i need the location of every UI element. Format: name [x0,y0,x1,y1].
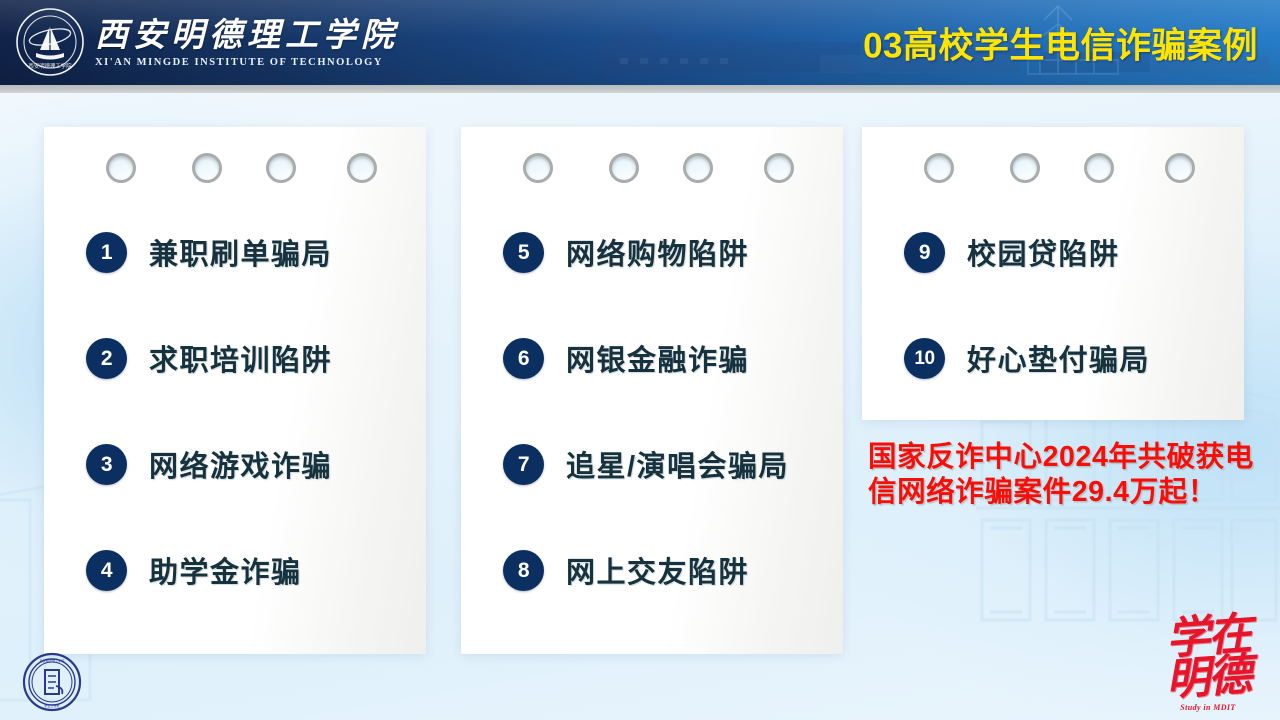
binder-hole-icon [1010,153,1040,183]
svg-text:西安明德理工学院: 西安明德理工学院 [28,62,72,70]
calligraphy-subtitle: Study in MDIT [1180,703,1235,712]
university-crest-icon: 西安明德理工学院 [14,6,86,78]
list-item[interactable]: 3 网络游戏诈骗 [86,443,332,485]
calligraphy-logo: 学在 明德 Study in MDIT [1144,588,1272,712]
binder-hole-icon [1165,153,1195,183]
list-item[interactable]: 2 求职培训陷阱 [86,337,332,379]
brand-name-en: XI'AN MINGDE INSTITUTE OF TECHNOLOGY [95,57,399,68]
binder-hole-icon [192,153,222,183]
list-item-label: 兼职刷单骗局 [149,231,332,273]
binder-hole-icon [609,153,639,183]
list-item-label: 校园贷陷阱 [967,231,1120,273]
list-item[interactable]: 10 好心垫付骗局 [904,337,1150,379]
fraud-card-column-3: 9 校园贷陷阱 10 好心垫付骗局 [862,127,1244,420]
item-number-badge: 5 [503,232,544,273]
list-item-label: 助学金诈骗 [149,549,302,591]
item-number-badge: 4 [86,550,127,591]
binder-hole-icon [347,153,377,183]
fraud-card-column-2: 5 网络购物陷阱 6 网银金融诈骗 7 追星/演唱会骗局 8 网上交友陷阱 [461,127,843,654]
brand-name-cn: 西安明德理工学院 [95,18,399,55]
list-item-label: 求职培训陷阱 [149,337,332,379]
svg-text:西安明德理工学院: 西安明德理工学院 [40,658,65,663]
header-divider-strip [0,85,1280,93]
binder-hole-icon [106,153,136,183]
binder-holes-group-2 [461,153,843,187]
list-item-label: 网银金融诈骗 [566,337,749,379]
list-item[interactable]: 6 网银金融诈骗 [503,337,749,379]
item-number-badge: 8 [503,550,544,591]
list-item-label: 好心垫付骗局 [967,337,1150,379]
binder-hole-icon [523,153,553,183]
list-item-label: 追星/演唱会骗局 [566,443,789,485]
list-item[interactable]: 8 网上交友陷阱 [503,549,749,591]
item-number-badge: 2 [86,338,127,379]
item-number-badge: 3 [86,444,127,485]
brand-lockup: 西安明德理工学院 西安明德理工学院 XI'AN MINGDE INSTITUTE… [14,6,399,78]
list-item[interactable]: 5 网络购物陷阱 [503,231,749,273]
fraud-card-column-1: 1 兼职刷单骗局 2 求职培训陷阱 3 网络游戏诈骗 4 助学金诈骗 [44,127,426,654]
slide-background: 西安明德理工学院 西安明德理工学院 XI'AN MINGDE INSTITUTE… [0,0,1280,720]
binder-hole-icon [764,153,794,183]
binder-hole-icon [1084,153,1114,183]
binder-holes-group-1 [44,153,426,187]
list-item-label: 网络购物陷阱 [566,231,749,273]
item-number-badge: 10 [904,338,945,379]
school-seal-icon: 西安明德理工学院 学生工作处 [22,652,82,712]
list-item[interactable]: 7 追星/演唱会骗局 [503,443,789,485]
list-item-label: 网络游戏诈骗 [149,443,332,485]
binder-hole-icon [924,153,954,183]
list-item[interactable]: 1 兼职刷单骗局 [86,231,332,273]
item-number-badge: 7 [503,444,544,485]
item-number-badge: 1 [86,232,127,273]
list-item-label: 网上交友陷阱 [566,549,749,591]
binder-holes-group-3 [862,153,1244,187]
header-bar: 西安明德理工学院 西安明德理工学院 XI'AN MINGDE INSTITUTE… [0,0,1280,85]
binder-hole-icon [683,153,713,183]
binder-hole-icon [266,153,296,183]
calligraphy-line-2: 明德 [1165,655,1252,701]
list-item[interactable]: 9 校园贷陷阱 [904,231,1120,273]
item-number-badge: 6 [503,338,544,379]
item-number-badge: 9 [904,232,945,273]
statistic-callout: 国家反诈中心2024年共破获电信网络诈骗案件29.4万起！ [868,440,1268,510]
svg-text:学生工作处: 学生工作处 [44,703,59,708]
page-title: 03高校学生电信诈骗案例 [863,17,1258,68]
list-item[interactable]: 4 助学金诈骗 [86,549,302,591]
